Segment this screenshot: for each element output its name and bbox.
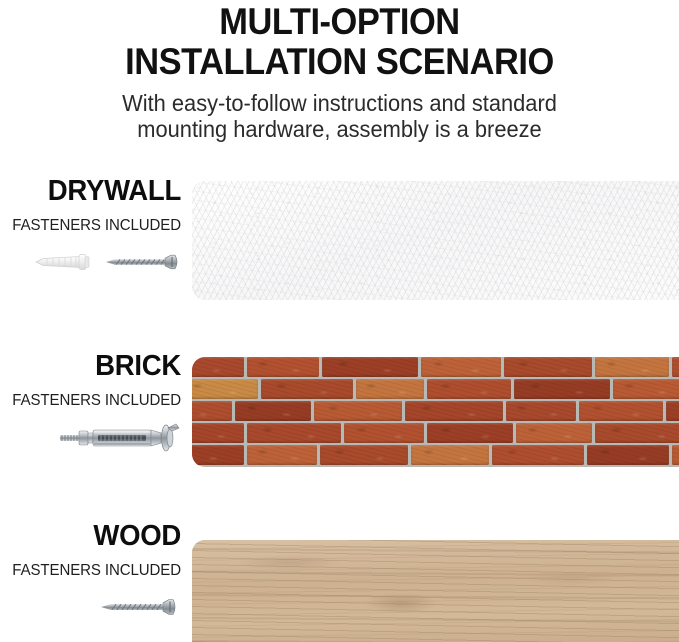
- installation-row-drywall: DRYWALL FASTENERS INCLUDED: [0, 175, 679, 305]
- subtitle-line-2: mounting hardware, assembly is a breeze: [17, 116, 662, 142]
- material-name-brick: BRICK: [9, 350, 181, 383]
- brick: [356, 379, 424, 399]
- label-block-wood: WOOD FASTENERS INCLUDED: [0, 520, 181, 630]
- wood-screw-icon: [100, 597, 180, 617]
- hardware-group-wood: [0, 590, 181, 630]
- brick: [506, 401, 576, 421]
- brick: [247, 423, 341, 443]
- brick: [320, 445, 408, 465]
- brick: [192, 379, 258, 399]
- brick: [672, 445, 679, 465]
- installation-scenario-infographic: MULTI-OPTION INSTALLATION SCENARIO With …: [0, 0, 679, 642]
- label-block-drywall: DRYWALL FASTENERS INCLUDED: [0, 175, 181, 285]
- material-name-drywall: DRYWALL: [9, 175, 181, 208]
- brick-course: [192, 357, 679, 377]
- brick: [247, 445, 317, 465]
- brick: [344, 423, 424, 443]
- page-title: MULTI-OPTION INSTALLATION SCENARIO: [24, 0, 655, 82]
- wood-texture: [192, 540, 679, 642]
- fasteners-included-drywall: FASTENERS INCLUDED: [5, 217, 181, 235]
- brick: [516, 423, 592, 443]
- page-subtitle: With easy-to-follow instructions and sta…: [17, 82, 662, 142]
- brick: [405, 401, 503, 421]
- subtitle-line-1: With easy-to-follow instructions and sta…: [17, 90, 662, 116]
- brick: [595, 357, 669, 377]
- material-swatch-wood: [192, 540, 679, 642]
- brick-course: [192, 423, 679, 443]
- brick: [672, 357, 679, 377]
- brick-course: [192, 445, 679, 465]
- brick: [314, 401, 402, 421]
- brick: [595, 423, 679, 443]
- brick: [587, 445, 669, 465]
- brick: [427, 379, 511, 399]
- drywall-texture: [192, 181, 679, 300]
- brick: [421, 357, 501, 377]
- brick-texture: [192, 357, 679, 467]
- fasteners-included-wood: FASTENERS INCLUDED: [5, 562, 181, 580]
- brick: [613, 379, 679, 399]
- hardware-group-drywall: [0, 245, 181, 285]
- brick: [666, 401, 679, 421]
- brick: [427, 423, 513, 443]
- drywall-anchor-icon: [34, 251, 96, 273]
- brick: [192, 401, 232, 421]
- brick: [192, 357, 244, 377]
- brick-course: [192, 401, 679, 421]
- brick: [579, 401, 663, 421]
- brick: [192, 423, 244, 443]
- brick-course: [192, 379, 679, 399]
- brick: [192, 445, 244, 465]
- brick: [514, 379, 610, 399]
- brick: [411, 445, 489, 465]
- title-line-2: INSTALLATION SCENARIO: [24, 42, 655, 82]
- brick: [261, 379, 353, 399]
- brick: [322, 357, 418, 377]
- sleeve-anchor-icon: [58, 422, 182, 454]
- header: MULTI-OPTION INSTALLATION SCENARIO With …: [0, 0, 679, 142]
- brick: [504, 357, 592, 377]
- brick: [247, 357, 319, 377]
- title-line-1: MULTI-OPTION: [24, 2, 655, 42]
- hardware-group-brick: [0, 420, 181, 460]
- installation-row-brick: BRICK FASTENERS INCLUDED: [0, 350, 679, 475]
- screw-icon: [105, 252, 181, 272]
- brick: [492, 445, 584, 465]
- material-name-wood: WOOD: [9, 520, 181, 553]
- material-swatch-brick: [192, 357, 679, 467]
- brick: [235, 401, 311, 421]
- label-block-brick: BRICK FASTENERS INCLUDED: [0, 350, 181, 460]
- fasteners-included-brick: FASTENERS INCLUDED: [5, 392, 181, 410]
- material-swatch-drywall: [192, 181, 679, 300]
- installation-row-wood: WOOD FASTENERS INCLUDED: [0, 520, 679, 642]
